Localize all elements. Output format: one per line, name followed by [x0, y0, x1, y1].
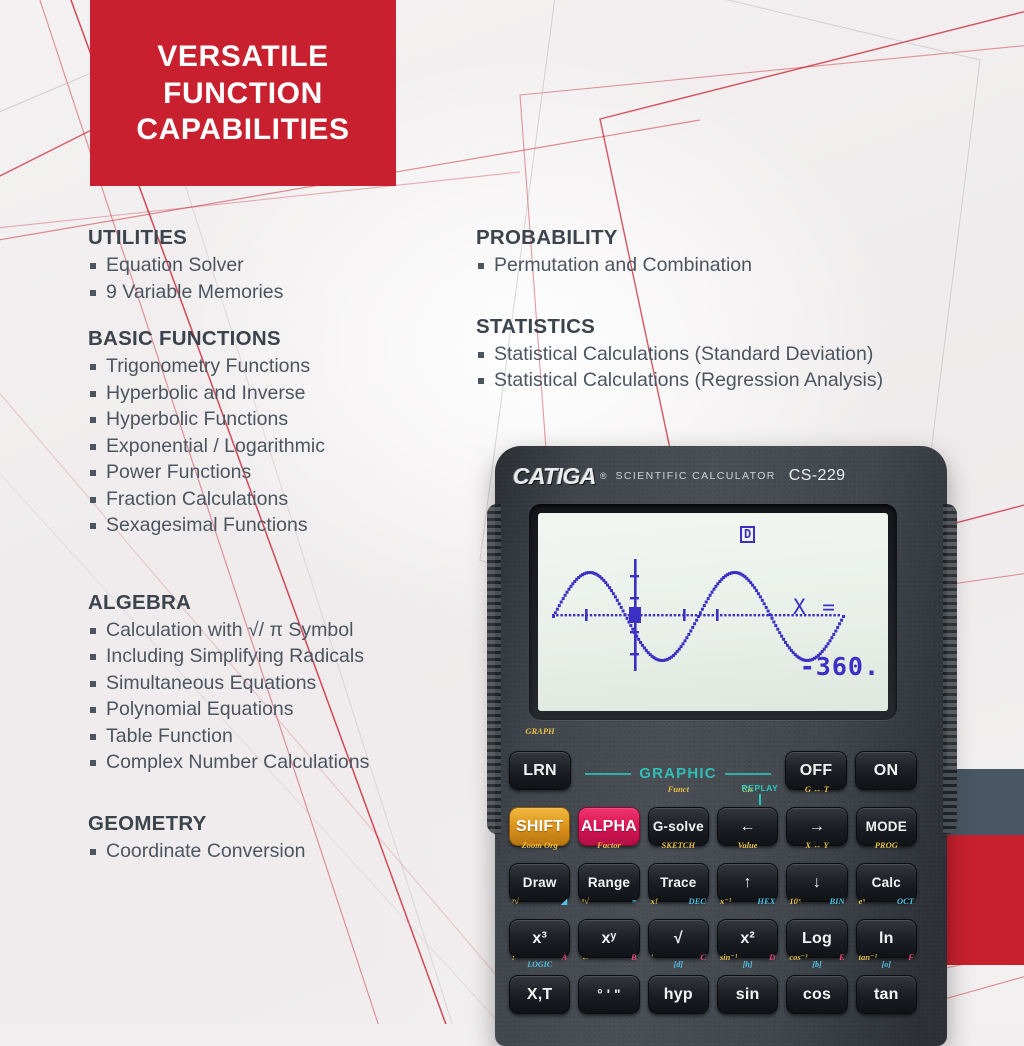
feature-list: Equation Solver9 Variable Memories — [88, 252, 468, 305]
list-item: 9 Variable Memories — [88, 279, 468, 306]
feature-column-left: UTILITIESEquation Solver9 Variable Memor… — [88, 226, 468, 864]
feature-group: BASIC FUNCTIONSTrigonometry FunctionsHyp… — [88, 327, 468, 539]
list-item: Coordinate Conversion — [88, 838, 468, 865]
brand-logo: CATIGA — [513, 463, 596, 490]
key-cell: 'Chyp — [648, 964, 709, 1014]
feature-group-title: UTILITIES — [88, 226, 468, 250]
feature-group: ALGEBRACalculation with √/ π SymbolInclu… — [88, 591, 468, 776]
lcd-bezel: D X = -360. — [529, 504, 897, 720]
key-cell: FunctG-solve — [648, 796, 709, 846]
key-cell: Zoom OrgDraw — [509, 852, 570, 902]
list-item: Table Function — [88, 723, 468, 750]
key-shift-label: eˣ — [859, 896, 866, 906]
key-shift-label: ˣ√ — [581, 896, 589, 906]
feature-group: PROBABILITYPermutation and Combination — [476, 226, 1004, 279]
key-[interactable]: ° ' " — [578, 975, 639, 1014]
key-secondary-labels: tan⁻¹F — [856, 952, 917, 963]
keypad-row: ʸ√◢x³LOGICˣ√=xʸx!DEC√[d]x⁻¹HEXx²[h]10ˣBI… — [509, 908, 917, 958]
key-alpha-label: B — [631, 952, 637, 962]
key-cell: X ↔ Y↓ — [786, 852, 847, 902]
key-cell: 10ˣBINLog[b] — [786, 908, 847, 958]
keypad-row: :AX,T←B° ' "'Chypsin⁻¹Dsincos⁻¹Ecostan⁻¹… — [509, 964, 917, 1014]
feature-list: Trigonometry FunctionsHyperbolic and Inv… — [88, 353, 468, 539]
list-item: Equation Solver — [88, 252, 468, 279]
key-cell: Cls← — [717, 796, 778, 846]
graphic-dash-left — [585, 773, 631, 775]
key-cell: cos⁻¹Ecos — [786, 964, 847, 1014]
key-alpha-label: F — [908, 952, 914, 963]
keypad-row: Zoom OrgDrawFactorRangeSKETCHTraceValue↑… — [509, 852, 917, 902]
key-cell: SHIFT — [509, 796, 570, 846]
key-cell: MODE — [856, 796, 917, 846]
key-alpha-label: A — [562, 952, 568, 962]
key-hyp[interactable]: hyp — [648, 975, 709, 1014]
registered-mark-icon: ® — [600, 471, 607, 481]
key-secondary-labels: x!DEC — [648, 896, 709, 906]
key-secondary-label: Zoom Org — [509, 840, 570, 850]
key-alpha-label: BIN — [830, 896, 845, 906]
key-secondary-label: PROG — [856, 840, 917, 850]
key-cell: sin⁻¹Dsin — [717, 964, 778, 1014]
key-sin[interactable]: sin — [717, 975, 778, 1014]
key-alpha-label: OCT — [897, 896, 914, 906]
lcd-x-label: X = — [793, 595, 837, 619]
key-shift-label: 10ˣ — [789, 896, 800, 906]
banner-line-3: CAPABILITIES — [136, 112, 349, 149]
key-lrn[interactable]: LRN — [509, 751, 571, 790]
key-secondary-labels: ˣ√= — [578, 896, 639, 906]
spacer — [476, 301, 1004, 315]
key-shift-label: cos⁻¹ — [789, 952, 807, 963]
key-alpha-label: = — [632, 896, 637, 906]
key-secondary-labels: :A — [509, 952, 570, 962]
key-cell: ←B° ' " — [578, 964, 639, 1014]
key-shift-label: ʸ√ — [512, 896, 519, 907]
list-item: Simultaneous Equations — [88, 670, 468, 697]
key-secondary-label: GRAPH — [509, 726, 571, 736]
page-title: VERSATILE FUNCTION CAPABILITIES — [136, 25, 349, 149]
key-alpha-label: ◢ — [561, 896, 568, 907]
graphic-dash-right — [725, 773, 771, 775]
keypad-row: SHIFTALPHAFunctG-solveCls←G ↔ T→MODEREPL… — [509, 796, 917, 846]
graphic-section-label: GRAPHIC — [579, 738, 777, 790]
spacer — [88, 798, 468, 812]
key-secondary-labels: 10ˣBIN — [786, 896, 847, 906]
calculator-image: CATIGA ® SCIENTIFIC CALCULATOR CS-229 — [487, 446, 957, 1046]
banner-line-2: FUNCTION — [136, 76, 349, 113]
graphic-label-text: GRAPHIC — [639, 765, 717, 782]
keypad-row: GRAPHLRNGRAPHICOFFON — [509, 738, 917, 790]
key-tan[interactable]: tan — [856, 975, 917, 1014]
key-on[interactable]: ON — [855, 751, 917, 790]
list-item: Statistical Calculations (Regression Ana… — [476, 367, 1004, 394]
feature-group: UTILITIESEquation Solver9 Variable Memor… — [88, 226, 468, 305]
header-banner: VERSATILE FUNCTION CAPABILITIES — [90, 0, 396, 186]
feature-list: Permutation and Combination — [476, 252, 1004, 279]
key-shift-label: : — [512, 952, 515, 962]
key-shift-label: x⁻¹ — [720, 896, 731, 907]
feature-list: Coordinate Conversion — [88, 838, 468, 865]
key-shift-label: sin⁻¹ — [720, 952, 737, 963]
key-secondary-labels: x⁻¹HEX — [717, 896, 778, 907]
key-alpha-label: DEC — [689, 896, 706, 906]
key-cell: Value↑ — [717, 852, 778, 902]
lcd-screen: D X = -360. — [538, 513, 888, 711]
key-secondary-label: SKETCH — [648, 840, 709, 850]
key-cell: ʸ√◢x³LOGIC — [509, 908, 570, 958]
key-cell: SKETCHTrace — [648, 852, 709, 902]
calculator-grip-right-icon — [943, 504, 957, 834]
list-item: Polynomial Equations — [88, 696, 468, 723]
list-item: Fraction Calculations — [88, 486, 468, 513]
key-secondary-label: G ↔ T — [786, 784, 847, 794]
key-cos[interactable]: cos — [786, 975, 847, 1014]
key-alpha-label: C — [700, 952, 706, 962]
feature-list: Statistical Calculations (Standard Devia… — [476, 341, 1004, 394]
key-cell: ALPHA — [578, 796, 639, 846]
key-secondary-labels: ʸ√◢ — [509, 896, 570, 907]
feature-group-title: ALGEBRA — [88, 591, 468, 615]
key-secondary-labels: sin⁻¹D — [717, 952, 778, 963]
feature-list: Calculation with √/ π SymbolIncluding Si… — [88, 617, 468, 776]
calculator-brand-bar: CATIGA ® SCIENTIFIC CALCULATOR CS-229 — [487, 454, 939, 498]
feature-group-title: STATISTICS — [476, 315, 1004, 339]
key-secondary-label: Value — [717, 840, 778, 850]
list-item: Hyperbolic and Inverse — [88, 380, 468, 407]
key-shift-label: tan⁻¹ — [859, 952, 877, 963]
key-cell: ON — [855, 738, 917, 790]
list-item: Power Functions — [88, 459, 468, 486]
list-item: Trigonometry Functions — [88, 353, 468, 380]
key-cell: ˣ√=xʸ — [578, 908, 639, 958]
key-shift-label: ← — [581, 952, 590, 962]
key-secondary-labels: 'C — [648, 952, 709, 962]
list-item: Complex Number Calculations — [88, 749, 468, 776]
key-cell: FactorRange — [578, 852, 639, 902]
feature-group: GEOMETRYCoordinate Conversion — [88, 812, 468, 865]
feature-group-title: BASIC FUNCTIONS — [88, 327, 468, 351]
key-shift-label: x! — [651, 896, 659, 906]
list-item: Statistical Calculations (Standard Devia… — [476, 341, 1004, 368]
lcd-mode-indicator: D — [740, 526, 755, 543]
calculator-keypad: GRAPHLRNGRAPHICOFFONSHIFTALPHAFunctG-sol… — [509, 738, 917, 1020]
key-shift-label: ' — [651, 952, 653, 962]
list-item: Including Simplifying Radicals — [88, 643, 468, 670]
key-secondary-label: X ↔ Y — [786, 840, 847, 850]
key-secondary-label: Factor — [578, 840, 639, 850]
list-item: Sexagesimal Functions — [88, 512, 468, 539]
list-item: Hyperbolic Functions — [88, 406, 468, 433]
key-cell: x!DEC√[d] — [648, 908, 709, 958]
key-secondary-labels: cos⁻¹E — [786, 952, 847, 963]
key-cell: OFF — [785, 738, 847, 790]
key-cell: :AX,T — [509, 964, 570, 1014]
key-secondary-labels: eˣOCT — [856, 896, 917, 906]
key-alpha-label: D — [769, 952, 775, 963]
brand-model: CS-229 — [789, 467, 846, 485]
key-cell: G ↔ T→ — [786, 796, 847, 846]
feature-group-title: GEOMETRY — [88, 812, 468, 836]
key-cell: x⁻¹HEXx²[h] — [717, 908, 778, 958]
calculator-grip-left-icon — [487, 504, 501, 834]
key-alpha-label: HEX — [757, 896, 775, 907]
key-alpha-label: E — [839, 952, 845, 963]
list-item: Exponential / Logarithmic — [88, 433, 468, 460]
feature-group-title: PROBABILITY — [476, 226, 1004, 250]
list-item: Permutation and Combination — [476, 252, 1004, 279]
key-cell: GRAPHLRN — [509, 738, 571, 790]
spacer — [88, 561, 468, 591]
feature-column-right: PROBABILITYPermutation and CombinationST… — [476, 226, 1004, 394]
key-secondary-label: Funct — [648, 784, 709, 794]
key-secondary-label: Cls — [717, 784, 778, 794]
brand-subtitle: SCIENTIFIC CALCULATOR — [616, 470, 776, 482]
key-cell: PROGCalc — [856, 852, 917, 902]
banner-line-1: VERSATILE — [136, 39, 349, 76]
feature-group: STATISTICSStatistical Calculations (Stan… — [476, 315, 1004, 394]
key-cell: tan⁻¹Ftan — [856, 964, 917, 1014]
key-x-t[interactable]: X,T — [509, 975, 570, 1014]
key-secondary-labels: ←B — [578, 952, 639, 962]
key-cell: eˣOCTln[o] — [856, 908, 917, 958]
list-item: Calculation with √/ π Symbol — [88, 617, 468, 644]
lcd-value: -360. — [800, 652, 880, 681]
